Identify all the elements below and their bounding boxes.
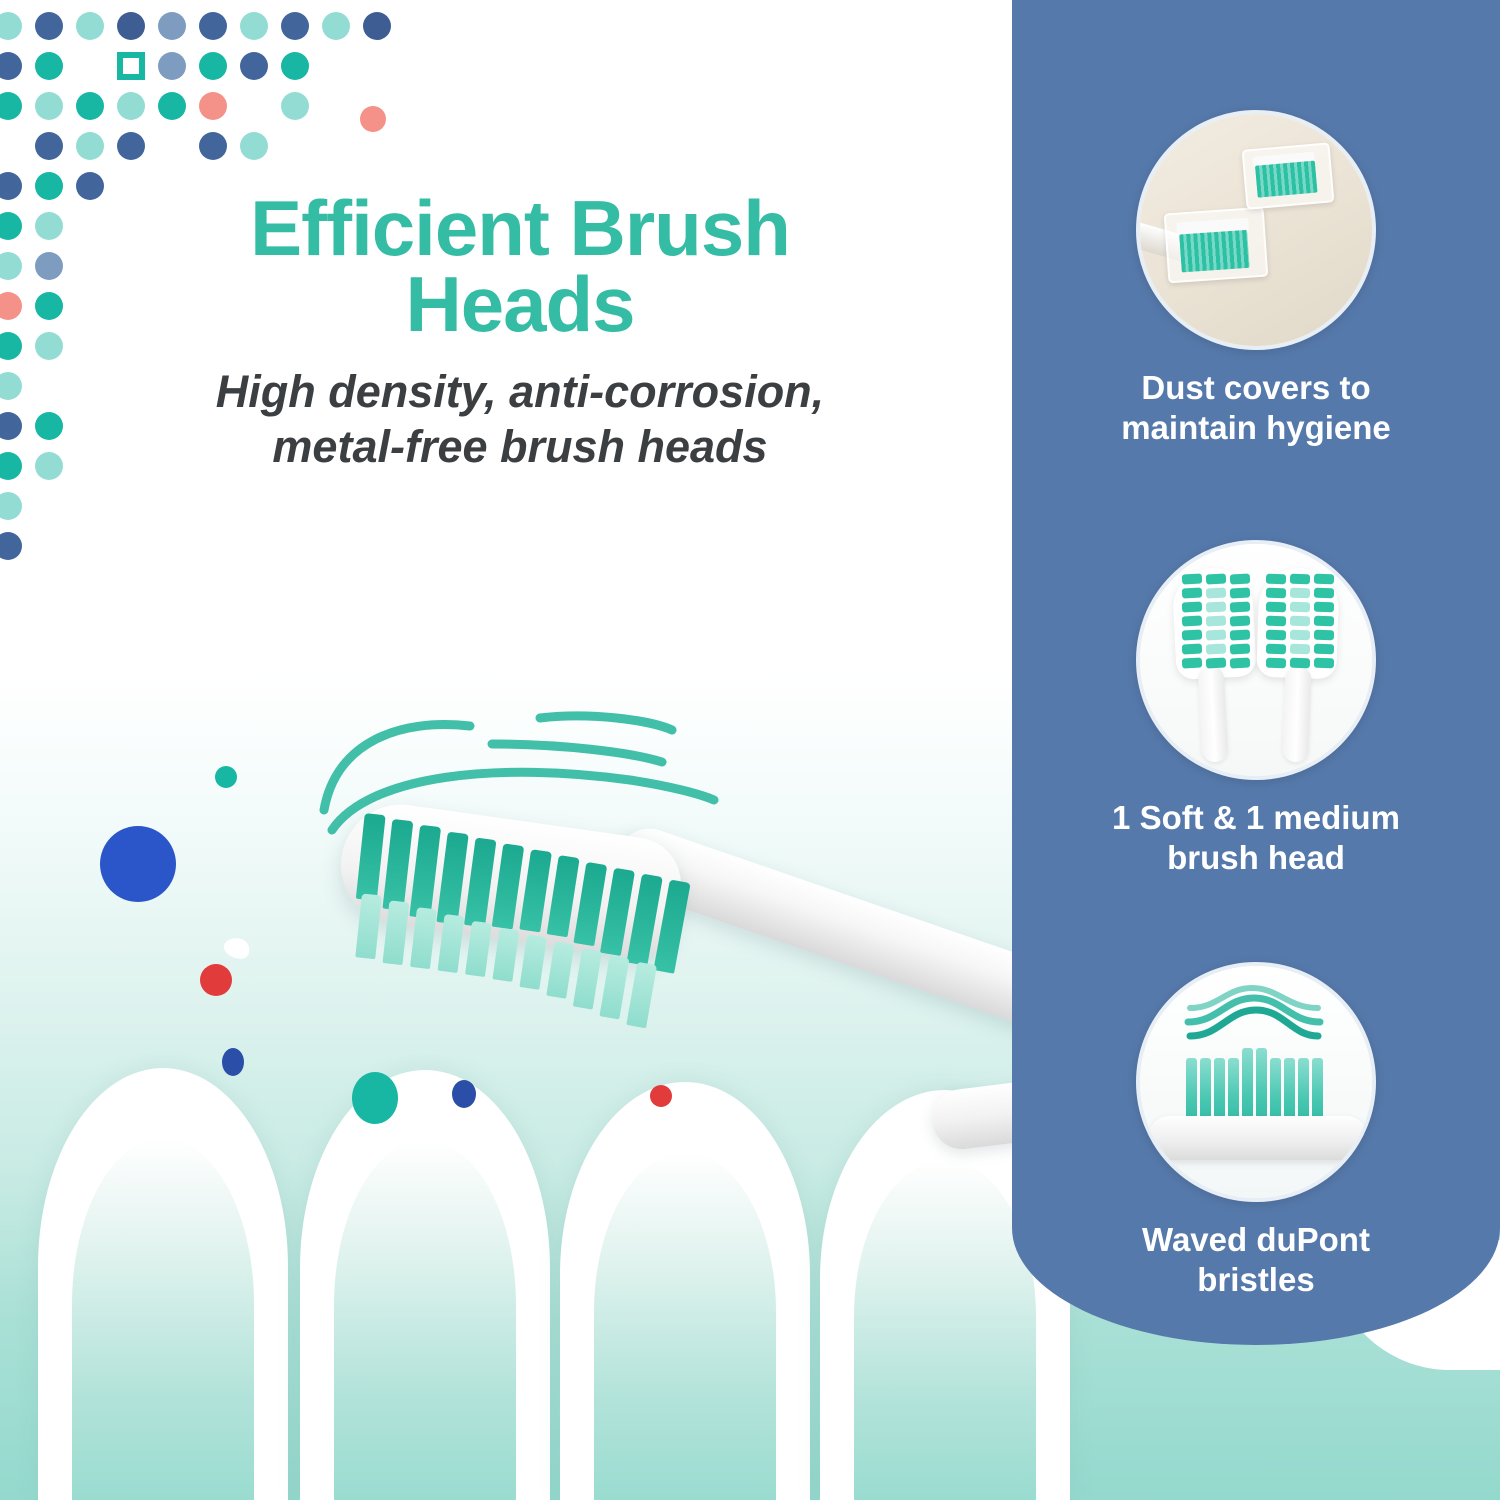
brush-head-bristle xyxy=(1314,588,1334,599)
brush-head-bristle xyxy=(1182,629,1202,640)
dot-grid-dot xyxy=(35,92,63,120)
feature-1-caption-line-2: maintain hygiene xyxy=(1121,409,1391,446)
brush-head-bristle xyxy=(1182,601,1202,612)
brush-head-bristle xyxy=(1266,588,1286,599)
dot-grid-dot xyxy=(199,132,227,160)
hero-bristle-tuft xyxy=(382,819,413,911)
feature-2-caption: 1 Soft & 1 medium brush head xyxy=(1012,798,1500,879)
hero-bristle-tuft-light xyxy=(519,934,546,989)
brush-head-bristle xyxy=(1206,657,1226,668)
dot-grid-dot xyxy=(199,52,227,80)
brush-head-bristle xyxy=(1230,615,1250,626)
dot-grid-dot xyxy=(35,292,63,320)
tooth-inner-fill xyxy=(594,1152,776,1500)
hero-bristle-tuft-light xyxy=(438,914,465,973)
hero-bristle-tuft xyxy=(492,843,524,929)
dot-grid-dot xyxy=(0,172,22,200)
hero-bristle-tuft-light xyxy=(600,955,630,1019)
feature-waved-bristles[interactable]: Waved duPont bristles xyxy=(1012,962,1500,1301)
dot-grid-dot xyxy=(35,212,63,240)
feature-3-caption-line-2: bristles xyxy=(1197,1261,1314,1298)
brush-head-bristle xyxy=(1314,602,1334,613)
brush-head-bristle xyxy=(1290,658,1310,669)
feature-2-photo xyxy=(1136,540,1376,780)
brush-head-bristle xyxy=(1230,629,1250,640)
teal-dot-on-tooth xyxy=(352,1072,398,1124)
dot-grid-dot xyxy=(117,92,145,120)
brush-head-neck xyxy=(1198,665,1229,762)
red-dot xyxy=(200,964,232,996)
infographic-canvas: Efficient Brush Heads High density, anti… xyxy=(0,0,1500,1500)
dot-grid-dot xyxy=(0,92,22,120)
dot-grid-dot xyxy=(0,12,22,40)
dot-grid-dot xyxy=(322,12,350,40)
dot-grid-dot xyxy=(240,12,268,40)
feature-1-caption: Dust covers to maintain hygiene xyxy=(1012,368,1500,449)
hero-bristle-tuft-light xyxy=(626,962,657,1028)
brush-head-bristle xyxy=(1314,616,1334,627)
brush-head-bristle xyxy=(1182,587,1202,598)
tooth-inner-fill xyxy=(854,1160,1036,1500)
dot-grid-dot xyxy=(76,172,104,200)
brush-head-bristle xyxy=(1290,574,1310,585)
feature-soft-medium[interactable]: 1 Soft & 1 medium brush head xyxy=(1012,540,1500,879)
navy-dot-on-tooth xyxy=(222,1048,244,1076)
feature-1-caption-line-1: Dust covers to xyxy=(1141,369,1370,406)
hero-bristle-tuft xyxy=(437,831,469,924)
dot-grid-dot xyxy=(117,132,145,160)
decorative-dot-grid xyxy=(0,0,420,500)
dot-grid-dot xyxy=(363,12,391,40)
tooth-inner-fill xyxy=(334,1140,516,1500)
brush-head-bristle xyxy=(1290,616,1310,627)
dot-grid-dot xyxy=(158,92,186,120)
brush-head-bristle xyxy=(1182,573,1202,584)
brush-head-bristle xyxy=(1206,643,1226,654)
features-panel: Dust covers to maintain hygiene 1 Soft &… xyxy=(1012,0,1500,1345)
dot-grid-dot xyxy=(0,292,22,320)
dot-grid-dot xyxy=(0,212,22,240)
dot-grid-dot xyxy=(76,12,104,40)
hero-bristle-tuft xyxy=(519,849,552,932)
hero-bristle-tuft-light xyxy=(465,921,492,977)
dot-grid-dot xyxy=(35,52,63,80)
brush-head-bristle xyxy=(1266,616,1286,627)
brush-head-bristle xyxy=(1314,644,1334,655)
hero-bristle-tuft-light xyxy=(546,941,574,998)
dot-grid-dot xyxy=(158,52,186,80)
dot-grid-dot xyxy=(240,132,268,160)
tooth-inner-fill xyxy=(72,1138,254,1500)
feature-2-caption-line-1: 1 Soft & 1 medium xyxy=(1112,799,1400,836)
dot-grid-square xyxy=(117,52,145,80)
brush-head-bristle xyxy=(1314,658,1334,669)
dot-grid-stray-dot xyxy=(360,106,386,132)
dot-grid-dot xyxy=(158,12,186,40)
hero-bristle-tuft-light xyxy=(383,900,410,965)
dot-grid-dot xyxy=(35,412,63,440)
dot-grid-dot xyxy=(281,92,309,120)
brush-head-bristle xyxy=(1182,643,1202,654)
red-dot-on-tooth xyxy=(650,1085,672,1107)
hero-bristle-tuft xyxy=(356,813,386,901)
dot-grid-dot xyxy=(0,412,22,440)
feature-3-caption: Waved duPont bristles xyxy=(1012,1220,1500,1301)
dot-grid-dot xyxy=(35,12,63,40)
feature-2-caption-line-2: brush head xyxy=(1167,839,1345,876)
dot-grid-dot xyxy=(0,332,22,360)
dot-grid-dot xyxy=(35,252,63,280)
hero-bristle-tuft-light xyxy=(573,948,602,1009)
brush-head-bristle xyxy=(1206,587,1226,598)
brush-head-bristle xyxy=(1290,588,1310,599)
hero-bristle-tuft xyxy=(547,855,580,937)
brush-head-bristle xyxy=(1266,630,1286,641)
brush-head-bristle xyxy=(1314,574,1334,585)
dot-grid-dot xyxy=(0,52,22,80)
brush-head-bristle xyxy=(1206,573,1226,584)
dot-grid-dot xyxy=(35,172,63,200)
brush-head-bristle xyxy=(1266,574,1286,585)
brush-head-bristle xyxy=(1182,615,1202,626)
dot-grid-dot xyxy=(76,92,104,120)
hero-bristle-tuft xyxy=(409,825,441,919)
dot-grid-dot xyxy=(35,452,63,480)
dot-grid-dot xyxy=(35,332,63,360)
dot-grid-dot xyxy=(199,12,227,40)
dot-grid-dot xyxy=(0,252,22,280)
brush-head-bristle xyxy=(1230,643,1250,654)
brush-head-bristle xyxy=(1206,615,1226,626)
dot-grid-dot xyxy=(281,52,309,80)
royal-blue-dot xyxy=(100,826,176,902)
brush-head-bristle xyxy=(1206,629,1226,640)
brush-head-bristle xyxy=(1314,630,1334,641)
brush-head-neck xyxy=(1282,666,1311,763)
dot-grid-dot xyxy=(0,372,22,400)
brush-head-bristle xyxy=(1230,587,1250,598)
feature-3-caption-line-1: Waved duPont xyxy=(1142,1221,1370,1258)
hero-bristle-tuft-light xyxy=(492,928,519,982)
teeth-row-graphic xyxy=(0,1030,1060,1500)
hero-bristle-tuft-light xyxy=(355,893,382,959)
dot-grid-dot xyxy=(0,452,22,480)
brush-head-bristle xyxy=(1266,644,1286,655)
brush-head-bristle xyxy=(1206,601,1226,612)
feature-1-photo xyxy=(1136,110,1376,350)
brush-head-bristle xyxy=(1290,644,1310,655)
brush-head-bristle xyxy=(1182,657,1202,668)
dot-grid-dot xyxy=(117,12,145,40)
dot-grid-dot xyxy=(76,132,104,160)
teal-dot xyxy=(215,766,237,788)
feature-dust-covers[interactable]: Dust covers to maintain hygiene xyxy=(1012,110,1500,449)
brush-head-bristle xyxy=(1230,601,1250,612)
dot-grid-dot xyxy=(35,132,63,160)
brush-head-bristle xyxy=(1290,602,1310,613)
brush-head-bristle xyxy=(1230,573,1250,584)
navy-dot-small xyxy=(452,1080,476,1108)
hero-bristle-tuft xyxy=(464,837,496,927)
dot-grid-dot xyxy=(240,52,268,80)
feature-3-photo xyxy=(1136,962,1376,1202)
brush-head-bristle xyxy=(1230,657,1250,668)
brush-head-bristle xyxy=(1290,630,1310,641)
brush-head-bristle xyxy=(1266,602,1286,613)
dot-grid-dot xyxy=(199,92,227,120)
brush-head-bristle xyxy=(1266,658,1286,669)
dot-grid-dot xyxy=(281,12,309,40)
